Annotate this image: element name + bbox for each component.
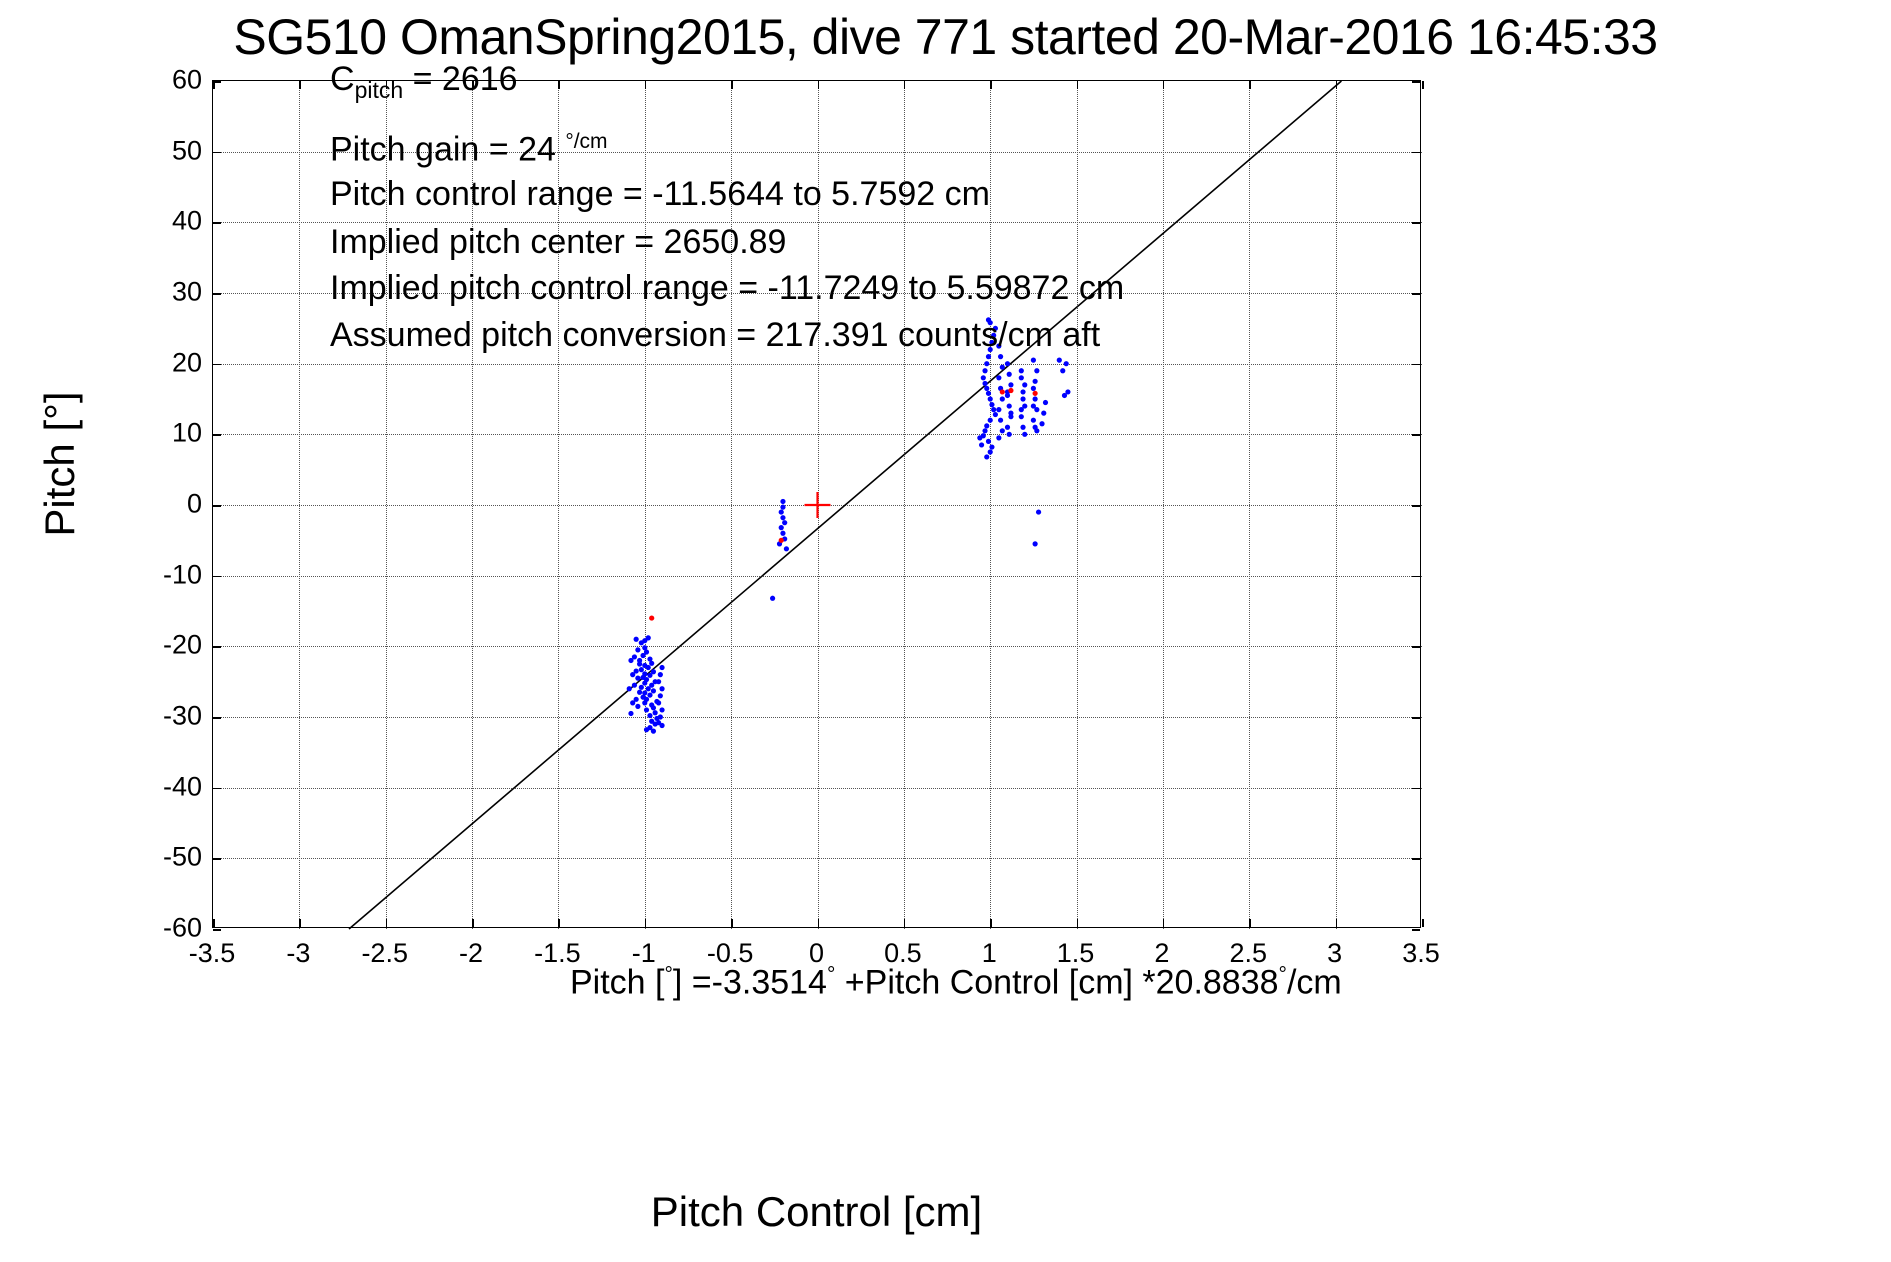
data-point [659,686,664,691]
annotation-implied-pitch-center: Implied pitch center = 2650.89 [330,225,786,259]
data-point [982,381,987,386]
data-point [1020,389,1025,394]
data-point [651,688,656,693]
data-point [1005,425,1010,430]
fit-equation-part1: Pitch [ [570,963,664,1001]
axis-tick-x [1422,81,1424,89]
data-point [628,711,633,716]
data-point [639,685,644,690]
data-point [658,714,663,719]
data-point [1031,403,1036,408]
series-reference-points [649,388,1038,621]
data-point [782,520,787,525]
y-tick-label: -10 [134,559,202,590]
data-point [642,700,647,705]
data-point [770,596,775,601]
data-point [1033,379,1038,384]
y-tick-label: 60 [134,65,202,96]
data-point [780,499,785,504]
series-observations [627,317,1071,733]
data-point [1062,393,1067,398]
data-point [981,375,986,380]
annotation-pitch-control-range: Pitch control range = -11.5644 to 5.7592… [330,177,990,211]
data-point [1019,375,1024,380]
data-point [649,661,654,666]
data-point [1057,358,1062,363]
data-point [1039,421,1044,426]
data-point [1036,509,1041,514]
data-point [637,690,642,695]
data-point [1000,428,1005,433]
data-point [784,546,789,551]
data-point [996,407,1001,412]
data-point [986,391,991,396]
annotation-pitch-gain-unit: °/cm [565,130,607,153]
series-center-marker [805,492,831,518]
data-point [984,386,989,391]
data-point [647,713,652,718]
y-tick-label: 0 [134,489,202,520]
data-point [635,647,640,652]
y-tick-label: -40 [134,771,202,802]
data-point [1000,365,1005,370]
axis-tick-x [1422,919,1424,927]
data-point [639,667,644,672]
data-point [998,418,1003,423]
data-point [630,672,635,677]
annotation-cpitch-subscript: pitch [355,77,404,103]
data-point [649,615,654,620]
fit-equation-degree1: ° [664,963,672,986]
data-point [658,693,663,698]
data-point [1064,361,1069,366]
data-point [651,729,656,734]
data-point [984,454,989,459]
data-point [1033,541,1038,546]
y-tick-label: -20 [134,630,202,661]
data-point [630,700,635,705]
y-tick-label: -60 [134,913,202,944]
data-point [780,505,785,510]
data-point [991,407,996,412]
data-point [1020,425,1025,430]
data-point [644,727,649,732]
data-point [1008,382,1013,387]
y-tick-label: 30 [134,277,202,308]
y-tick-label: 10 [134,418,202,449]
axis-tick-y [1412,929,1420,931]
data-point [659,665,664,670]
data-point [1022,432,1027,437]
data-point [1008,388,1013,393]
data-point [1043,400,1048,405]
y-tick-label: -30 [134,701,202,732]
data-point [982,368,987,373]
x-tick-label: -3 [286,938,310,969]
fit-equation-part3: +Pitch Control [cm] *20.8838 [835,963,1278,1001]
data-point [628,658,633,663]
data-point [1007,432,1012,437]
data-point [634,637,639,642]
page-title: SG510 OmanSpring2015, dive 771 started 2… [0,8,1891,66]
data-point [1020,396,1025,401]
data-point [1031,418,1036,423]
axis-tick-y [213,929,221,931]
data-point [984,423,989,428]
fit-equation: Pitch [°] =-3.3514° +Pitch Control [cm] … [570,963,1342,1002]
data-point [1031,386,1036,391]
data-point [632,683,637,688]
data-point [1019,414,1024,419]
data-point [996,375,1001,380]
y-tick-label: 50 [134,135,202,166]
data-point [979,442,984,447]
center-plus-marker [805,492,831,518]
data-point [988,418,993,423]
data-point [1060,368,1065,373]
data-point [977,435,982,440]
data-point [1007,372,1012,377]
data-point [647,673,652,678]
data-point [1019,407,1024,412]
data-point [993,412,998,417]
annotation-pitch-gain: Pitch gain = 24 °/cm [330,131,608,166]
data-point [1000,389,1005,394]
data-point [1005,361,1010,366]
data-point [644,707,649,712]
data-point [658,672,663,677]
data-point [984,361,989,366]
data-point [988,396,993,401]
data-point [986,439,991,444]
x-axis-title: Pitch Control [cm] [212,1188,1421,1236]
data-point [1041,411,1046,416]
annotation-implied-control-range: Implied pitch control range = -11.7249 t… [330,271,1124,305]
y-tick-label: 40 [134,206,202,237]
annotation-assumed-conversion: Assumed pitch conversion = 217.391 count… [330,318,1100,352]
data-point [1019,368,1024,373]
y-tick-label: -50 [134,842,202,873]
data-point [1008,411,1013,416]
annotation-pitch-gain-text: Pitch gain = 24 [330,130,565,168]
data-point [1033,391,1038,396]
data-point [780,515,785,520]
data-point [1033,396,1038,401]
data-point [647,692,652,697]
data-point [989,402,994,407]
data-point [659,723,664,728]
data-point [780,531,785,536]
data-point [635,704,640,709]
annotation-cpitch-label: C [330,60,355,98]
x-tick-label: -2.5 [361,938,408,969]
data-point [779,525,784,530]
annotation-cpitch-value: = 2616 [403,60,517,98]
data-point [642,638,647,643]
data-point [779,509,784,514]
data-point [998,354,1003,359]
data-point [637,661,642,666]
data-point [656,679,661,684]
data-point [982,428,987,433]
data-point [653,710,658,715]
y-tick-label: 20 [134,347,202,378]
annotation-cpitch: Cpitch = 2616 [330,62,518,102]
data-point [651,705,656,710]
data-point [659,707,664,712]
fit-equation-part4: /cm [1287,963,1342,1001]
data-point [627,686,632,691]
fit-equation-degree3: ° [1279,963,1287,986]
data-point [635,676,640,681]
data-point [996,435,1001,440]
data-point [646,686,651,691]
data-point [642,680,647,685]
x-tick-label: 3.5 [1402,938,1440,969]
data-point [1034,428,1039,433]
data-point [1031,358,1036,363]
data-point [1022,382,1027,387]
data-point [640,653,645,658]
data-point [988,449,993,454]
data-point [1007,403,1012,408]
data-point [1034,368,1039,373]
fit-equation-part2: ] =-3.3514 [673,963,827,1001]
x-tick-label: -2 [459,938,483,969]
data-point [779,538,784,543]
data-point [646,665,651,670]
data-point [989,444,994,449]
data-point [656,700,661,705]
data-point [1000,396,1005,401]
y-axis-title: Pitch [°] [36,304,84,624]
data-point [986,354,991,359]
